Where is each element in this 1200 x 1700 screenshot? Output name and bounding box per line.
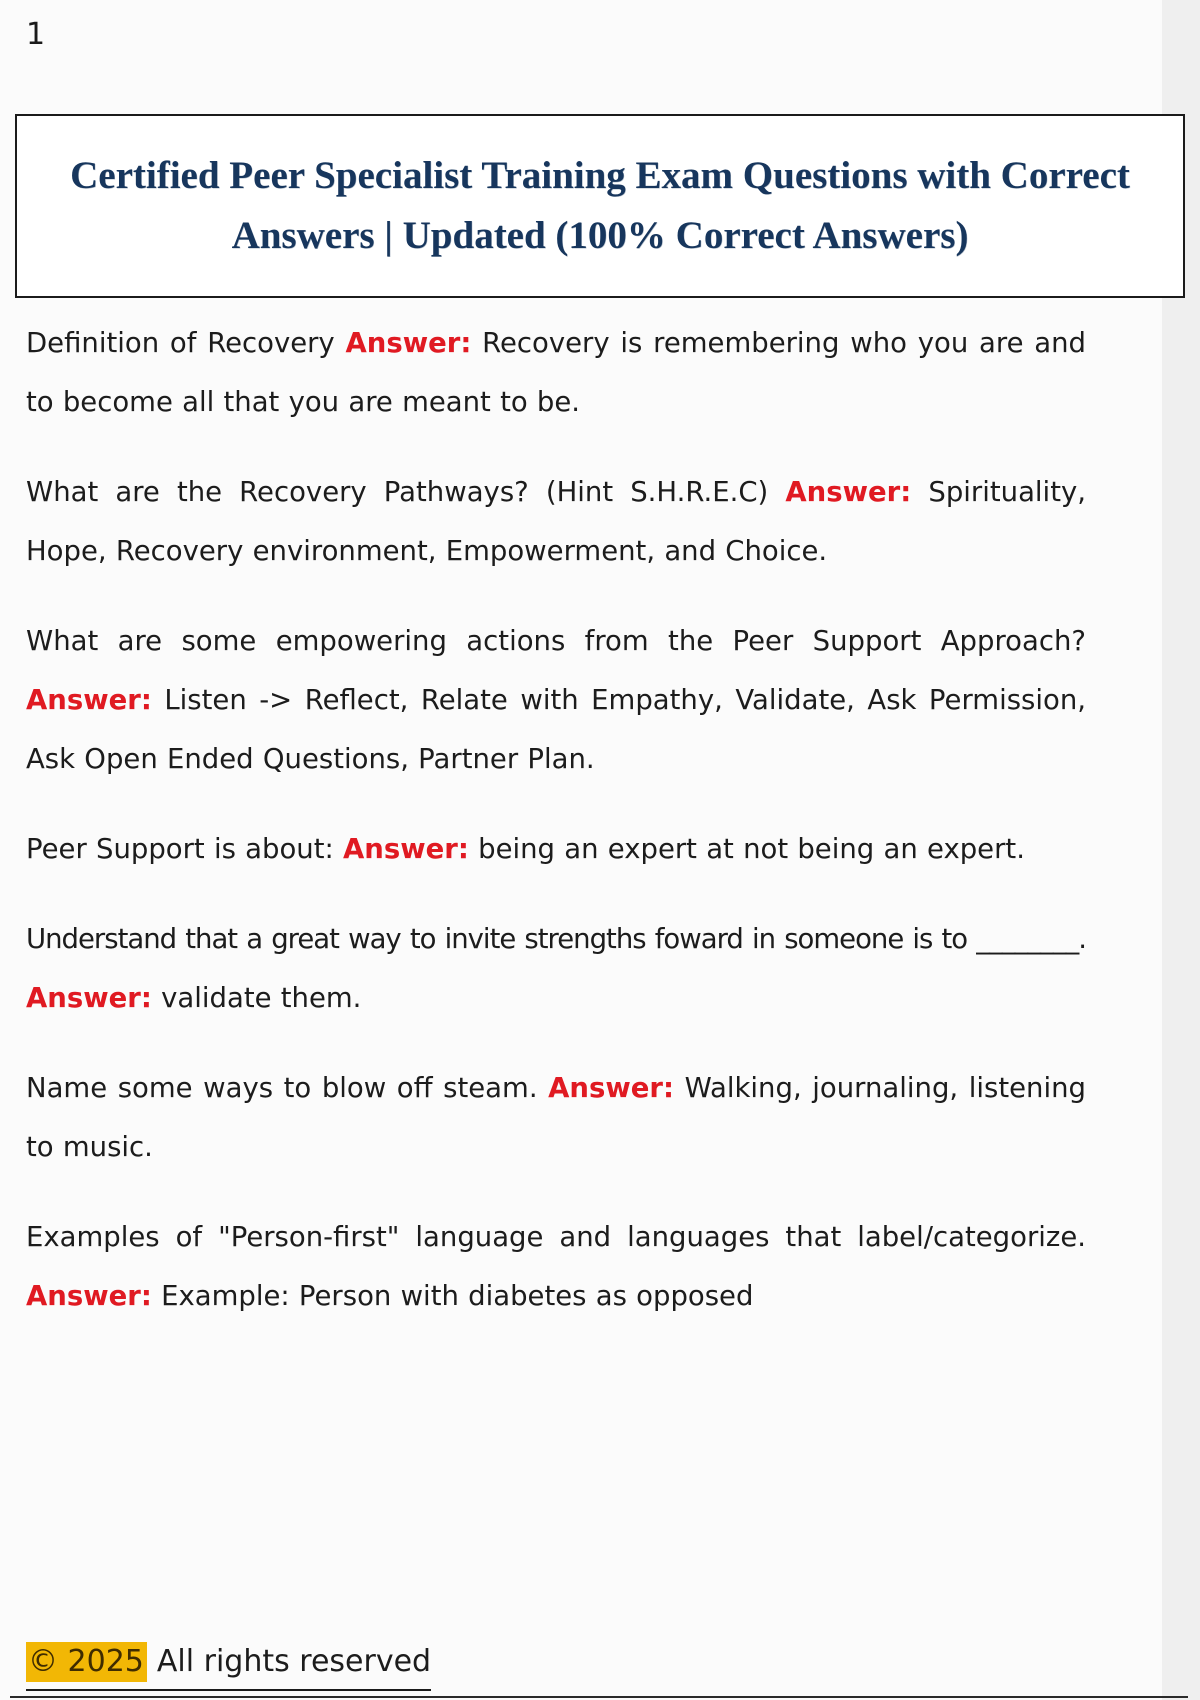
answer-label: Answer: [785, 476, 911, 508]
rights-reserved-text: All rights reserved [147, 1642, 431, 1682]
answer-label: Answer: [343, 833, 469, 865]
answer-label: Answer: [26, 982, 152, 1014]
qa-item: Examples of "Person-first" language and … [26, 1208, 1086, 1326]
answer-text: being an expert at not being an expert. [469, 833, 1025, 865]
question-text: Understand that a great way to invite st… [26, 923, 1086, 955]
copyright-notice: © 2025 [26, 1642, 147, 1682]
page-footer: © 2025 All rights reserved [26, 1642, 431, 1691]
qa-item: What are some empowering actions from th… [26, 612, 1086, 789]
qa-item: Peer Support is about: Answer: being an … [26, 820, 1086, 879]
qa-item: What are the Recovery Pathways? (Hint S.… [26, 463, 1086, 581]
answer-label: Answer: [26, 684, 152, 716]
question-text: Peer Support is about: [26, 833, 343, 865]
answer-text: validate them. [152, 982, 362, 1014]
question-text: What are the Recovery Pathways? (Hint S.… [26, 476, 785, 508]
footer-divider [10, 1696, 1188, 1698]
answer-text: Example: Person with diabetes as opposed [152, 1280, 754, 1312]
answer-label: Answer: [26, 1280, 152, 1312]
page-title: Certified Peer Specialist Training Exam … [17, 146, 1183, 267]
qa-item: Definition of Recovery Answer: Recovery … [26, 314, 1086, 432]
page-number: 1 [26, 20, 45, 50]
answer-text: Listen -> Reflect, Relate with Empathy, … [26, 684, 1086, 775]
answer-label: Answer: [345, 327, 471, 359]
qa-item: Name some ways to blow off steam. Answer… [26, 1059, 1086, 1177]
document-title-box: Certified Peer Specialist Training Exam … [15, 114, 1185, 298]
document-page: 1 Certified Peer Specialist Training Exa… [0, 0, 1200, 1700]
answer-label: Answer: [548, 1072, 674, 1104]
document-body: Definition of Recovery Answer: Recovery … [26, 314, 1086, 1326]
question-text: What are some empowering actions from th… [26, 625, 1086, 657]
question-text: Name some ways to blow off steam. [26, 1072, 548, 1104]
question-text: Examples of "Person-first" language and … [26, 1221, 1086, 1253]
qa-item: Understand that a great way to invite st… [26, 910, 1086, 1028]
question-text: Definition of Recovery [26, 327, 345, 359]
